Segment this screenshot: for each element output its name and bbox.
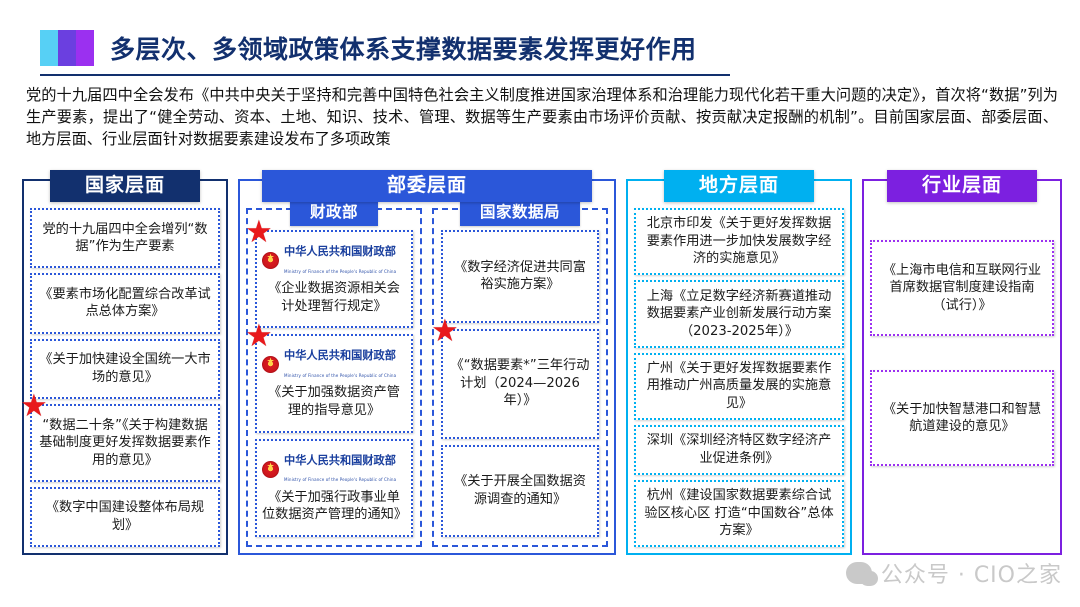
title-underline — [40, 74, 730, 76]
column-ministry: 部委层面财政部★中华人民共和国财政部Ministry of Finance of… — [238, 170, 616, 555]
policy-card-label: “数据二十条”《关于构建数据基础制度更好发挥数据要素作用的意见》 — [37, 417, 213, 470]
policy-card-label: 北京市印发《关于更好发挥数据要素作用进一步加快发展数字经济的实施意见》 — [641, 215, 837, 268]
column-header-national[interactable]: 国家层面 — [50, 170, 200, 202]
policy-card[interactable]: 《关于开展全国数据资源调查的通知》 — [441, 445, 599, 538]
title-accent-blocks — [40, 30, 94, 66]
national-emblem-icon — [262, 461, 279, 478]
policy-card-label: 《关于加强数据资产管理的指导意见》 — [262, 384, 406, 419]
policy-card[interactable]: 北京市印发《关于更好发挥数据要素作用进一步加快发展数字经济的实施意见》 — [634, 208, 844, 275]
mof-logo-text: 中华人民共和国财政部Ministry of Finance of the Peo… — [284, 347, 406, 382]
policy-card[interactable]: 《上海市电信和互联网行业首席数据官制度建设指南（试行）》 — [870, 240, 1054, 336]
mof-logo-cn: 中华人民共和国财政部 — [284, 349, 396, 362]
policy-card[interactable]: 《要素市场化配置综合改革试点总体方案》 — [30, 273, 220, 333]
accent-block-1 — [40, 30, 58, 66]
policy-card-label: 上海《立足数字经济新赛道推动数据要素产业创新发展行动方案（2023-2025年）… — [641, 288, 837, 341]
policy-card[interactable]: 《关于加快建设全国统一大市场的意见》 — [30, 339, 220, 399]
mof-logo: 中华人民共和国财政部Ministry of Finance of the Peo… — [262, 243, 406, 278]
watermark-label: 公众号 · CIO之家 — [881, 557, 1062, 589]
column-local: 地方层面北京市印发《关于更好发挥数据要素作用进一步加快发展数字经济的实施意见》上… — [626, 170, 852, 555]
policy-card-label: 杭州《建设国家数据要素综合试验区核心区 打造“中国数谷”总体方案》 — [641, 487, 837, 540]
policy-card-label: 党的十九届四中全会增列“数据”作为生产要素 — [37, 221, 213, 256]
policy-card-label: 《关于加快建设全国统一大市场的意见》 — [37, 351, 213, 386]
star-marker-icon: ★ — [20, 393, 46, 419]
policy-card[interactable]: 党的十九届四中全会增列“数据”作为生产要素 — [30, 208, 220, 268]
mof-logo-en: Ministry of Finance of the People's Repu… — [284, 269, 396, 274]
column-industry: 行业层面《上海市电信和互联网行业首席数据官制度建设指南（试行）》《关于加快智慧港… — [862, 170, 1062, 555]
policy-card-label: 深圳《深圳经济特区数字经济产业促进条例》 — [641, 432, 837, 467]
star-marker-icon: ★ — [431, 318, 457, 344]
policy-card[interactable]: ★“数据二十条”《关于构建数据基础制度更好发挥数据要素作用的意见》 — [30, 404, 220, 482]
wechat-icon — [846, 562, 872, 584]
policy-card-label: 《关于加快智慧港口和智慧航道建设的意见》 — [877, 401, 1047, 436]
mof-logo-text: 中华人民共和国财政部Ministry of Finance of the Peo… — [284, 452, 406, 487]
column-body: 《上海市电信和互联网行业首席数据官制度建设指南（试行）》《关于加快智慧港口和智慧… — [862, 202, 1062, 555]
mof-logo-text: 中华人民共和国财政部Ministry of Finance of the Peo… — [284, 243, 406, 278]
mof-logo-cn: 中华人民共和国财政部 — [284, 245, 396, 258]
slide-root: 多层次、多领域政策体系支撑数据要素发挥更好作用 党的十九届四中全会发布《中共中央… — [0, 0, 1080, 607]
subgroup-mof: 财政部★中华人民共和国财政部Ministry of Finance of the… — [246, 208, 422, 547]
column-header-ministry[interactable]: 部委层面 — [262, 170, 592, 202]
policy-card[interactable]: 广州《关于更好发挥数据要素作用推动广州高质量发展的实施意见》 — [634, 353, 844, 420]
mof-logo-en: Ministry of Finance of the People's Repu… — [284, 477, 396, 482]
title-row: 多层次、多领域政策体系支撑数据要素发挥更好作用 — [40, 30, 697, 66]
policy-card[interactable]: 《数字中国建设整体布局规划》 — [30, 487, 220, 547]
national-emblem-icon — [262, 356, 279, 373]
watermark: 公众号 · CIO之家 — [846, 557, 1062, 589]
page-title: 多层次、多领域政策体系支撑数据要素发挥更好作用 — [110, 30, 697, 66]
column-body: 财政部★中华人民共和国财政部Ministry of Finance of the… — [238, 202, 616, 555]
national-emblem-icon — [262, 252, 279, 269]
policy-card-label: 《数字中国建设整体布局规划》 — [37, 499, 213, 534]
star-marker-icon: ★ — [245, 219, 271, 245]
star-marker-icon: ★ — [245, 323, 271, 349]
column-body: 党的十九届四中全会增列“数据”作为生产要素《要素市场化配置综合改革试点总体方案》… — [22, 202, 228, 555]
policy-card-label: 《要素市场化配置综合改革试点总体方案》 — [37, 286, 213, 321]
policy-card[interactable]: 上海《立足数字经济新赛道推动数据要素产业创新发展行动方案（2023-2025年）… — [634, 280, 844, 347]
policy-card[interactable]: 中华人民共和国财政部Ministry of Finance of the Peo… — [255, 439, 413, 537]
accent-block-3 — [76, 30, 94, 66]
policy-card-label: 《企业数据资源相关会计处理暂行规定》 — [262, 280, 406, 315]
policy-card-label: 《关于开展全国数据资源调查的通知》 — [448, 473, 592, 508]
policy-card[interactable]: 深圳《深圳经济特区数字经济产业促进条例》 — [634, 425, 844, 475]
column-body: 北京市印发《关于更好发挥数据要素作用进一步加快发展数字经济的实施意见》上海《立足… — [626, 202, 852, 555]
policy-card-label: 广州《关于更好发挥数据要素作用推动广州高质量发展的实施意见》 — [641, 360, 837, 413]
mof-logo: 中华人民共和国财政部Ministry of Finance of the Peo… — [262, 452, 406, 487]
policy-card-label: 《数字经济促进共同富裕实施方案》 — [448, 259, 592, 294]
policy-card[interactable]: ★《“数据要素*”三年行动计划（2024—2026年）》 — [441, 329, 599, 439]
policy-card[interactable]: 《关于加快智慧港口和智慧航道建设的意见》 — [870, 370, 1054, 466]
column-header-industry[interactable]: 行业层面 — [887, 170, 1037, 202]
policy-card[interactable]: ★中华人民共和国财政部Ministry of Finance of the Pe… — [255, 230, 413, 328]
column-header-local[interactable]: 地方层面 — [664, 170, 814, 202]
policy-card-label: 《“数据要素*”三年行动计划（2024—2026年）》 — [448, 357, 592, 410]
policy-card[interactable]: ★中华人民共和国财政部Ministry of Finance of the Pe… — [255, 334, 413, 432]
intro-paragraph: 党的十九届四中全会发布《中共中央关于坚持和完善中国特色社会主义制度推进国家治理体… — [26, 84, 1058, 150]
policy-columns: 国家层面党的十九届四中全会增列“数据”作为生产要素《要素市场化配置综合改革试点总… — [22, 170, 1062, 555]
policy-card-label: 《上海市电信和互联网行业首席数据官制度建设指南（试行）》 — [877, 262, 1047, 315]
policy-card[interactable]: 《数字经济促进共同富裕实施方案》 — [441, 230, 599, 323]
policy-card-label: 《关于加强行政事业单位数据资产管理的通知》 — [262, 489, 406, 524]
column-national: 国家层面党的十九届四中全会增列“数据”作为生产要素《要素市场化配置综合改革试点总… — [22, 170, 228, 555]
accent-block-2 — [58, 30, 76, 66]
mof-logo-en: Ministry of Finance of the People's Repu… — [284, 373, 396, 378]
policy-card[interactable]: 杭州《建设国家数据要素综合试验区核心区 打造“中国数谷”总体方案》 — [634, 480, 844, 547]
subgroup-nda: 国家数据局《数字经济促进共同富裕实施方案》★《“数据要素*”三年行动计划（202… — [432, 208, 608, 547]
mof-logo-cn: 中华人民共和国财政部 — [284, 454, 396, 467]
mof-logo: 中华人民共和国财政部Ministry of Finance of the Peo… — [262, 347, 406, 382]
subgroup-container: 财政部★中华人民共和国财政部Ministry of Finance of the… — [246, 208, 608, 547]
